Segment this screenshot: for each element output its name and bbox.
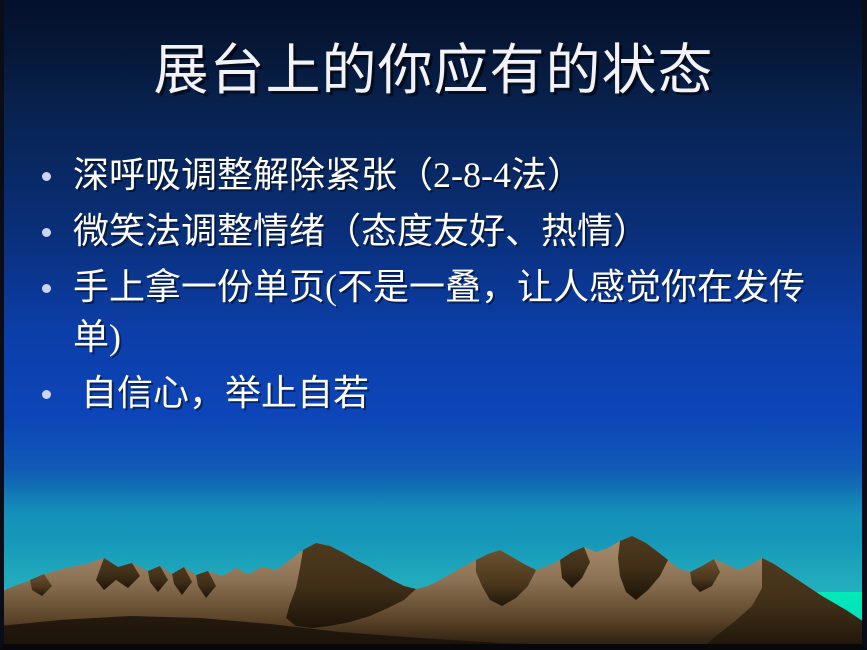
bullet-text-2: 微笑法调整情绪（态度友好、热情）	[51, 206, 814, 256]
slide-title: 展台上的你应有的状态	[0, 38, 867, 104]
bullet-text-4: 自信心，举止自若	[51, 368, 814, 418]
bullet-marker-icon	[42, 284, 51, 293]
list-item: 微笑法调整情绪（态度友好、热情）	[42, 206, 814, 256]
bullet-text-3: 手上拿一份单页(不是一叠，让人感觉你在发传单)	[51, 262, 814, 362]
list-item: 深呼吸调整解除紧张（2-8-4法）	[42, 150, 814, 200]
bullet-text-1: 深呼吸调整解除紧张（2-8-4法）	[51, 150, 814, 200]
mountain-range-graphic	[0, 440, 867, 650]
bullet-marker-icon	[42, 228, 51, 237]
bullet-marker-icon	[42, 390, 51, 399]
presentation-slide: 展台上的你应有的状态 深呼吸调整解除紧张（2-8-4法） 微笑法调整情绪（态度友…	[0, 0, 867, 650]
bullet-marker-icon	[42, 172, 51, 181]
list-item: 手上拿一份单页(不是一叠，让人感觉你在发传单)	[42, 262, 814, 362]
list-item: 自信心，举止自若	[42, 368, 814, 418]
slide-body-content: 深呼吸调整解除紧张（2-8-4法） 微笑法调整情绪（态度友好、热情） 手上拿一份…	[42, 150, 814, 424]
